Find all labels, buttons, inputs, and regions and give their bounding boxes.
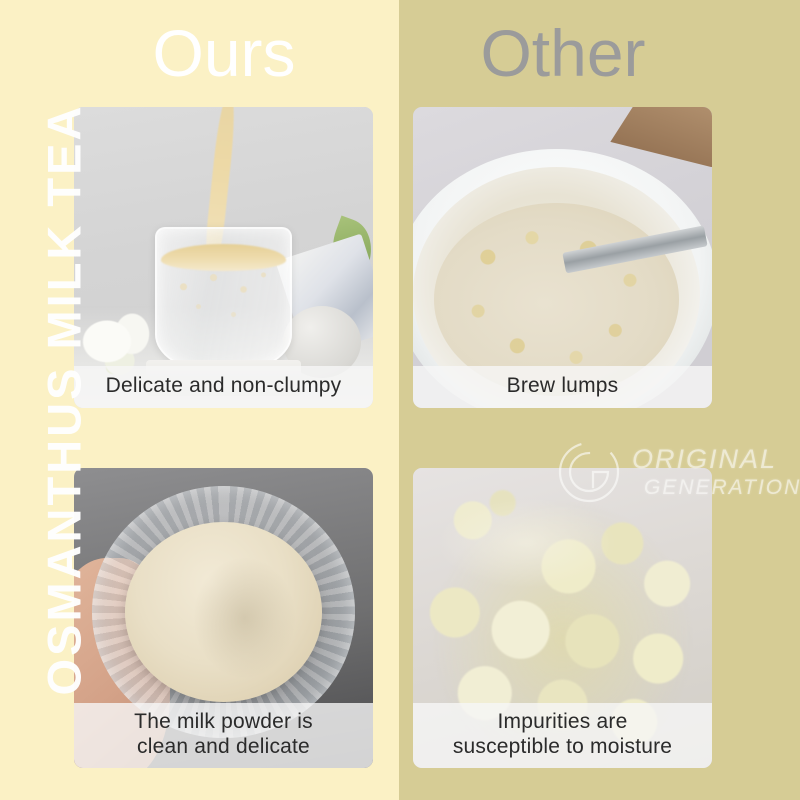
wooden-table-corner	[610, 107, 712, 167]
caption-line: Brew lumps	[419, 373, 706, 399]
caption-line: clean and delicate	[78, 734, 369, 760]
card-other-top[interactable]: Brew lumps	[413, 107, 712, 408]
heading-other: Other	[413, 20, 713, 86]
bowl-of-lumpy-milk-tea-with-spoon-photo	[413, 107, 712, 408]
powder-shadow	[194, 558, 296, 678]
card-other-bottom[interactable]: Impurities are susceptible to moisture	[413, 468, 712, 768]
card-ours-top[interactable]: Delicate and non-clumpy	[74, 107, 373, 408]
card-ours-bottom[interactable]: The milk powder is clean and delicate	[74, 468, 373, 768]
heading-ours: Ours	[74, 20, 374, 86]
caption-line: Impurities are	[417, 709, 708, 735]
caption-other-bottom: Impurities are susceptible to moisture	[413, 703, 712, 768]
caption-other-top: Brew lumps	[413, 366, 712, 408]
comparison-infographic: OSMANTHUS MILK TEA Ours Other Delicate a…	[0, 0, 800, 800]
vertical-brand-text: OSMANTHUS MILK TEA	[41, 90, 88, 710]
caption-line: The milk powder is	[78, 709, 369, 735]
glass-of-milk-tea-being-poured-photo	[74, 107, 373, 408]
caption-ours-bottom: The milk powder is clean and delicate	[74, 703, 373, 768]
tea-bubbles	[161, 267, 287, 333]
powder-dust	[437, 498, 616, 588]
caption-ours-top: Delicate and non-clumpy	[74, 366, 373, 408]
caption-line: Delicate and non-clumpy	[80, 373, 367, 399]
caption-line: susceptible to moisture	[417, 734, 708, 760]
